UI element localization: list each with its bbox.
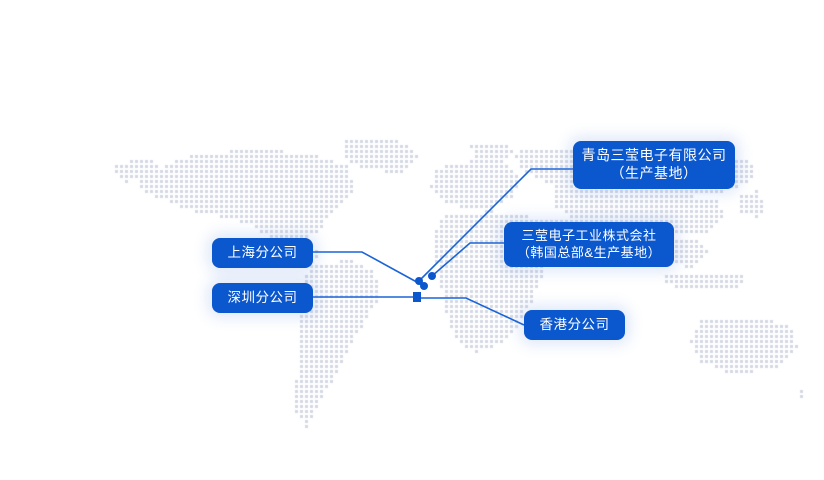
label-korea-hq[interactable]: 三莹电子工业株式会社 （韩国总部&生产基地） [504,222,674,267]
label-korea-line2: （韩国总部&生产基地） [517,245,661,262]
label-shenzhen-line1: 深圳分公司 [228,289,298,306]
world-map [0,0,824,480]
label-korea-line1: 三莹电子工业株式会社 [521,228,656,245]
label-shenzhen-branch[interactable]: 深圳分公司 [212,283,313,313]
label-shanghai-branch[interactable]: 上海分公司 [212,238,313,268]
label-qingdao-line1: 青岛三莹电子有限公司 [582,147,727,165]
label-hongkong-line1: 香港分公司 [540,316,610,333]
label-qingdao-line2: （生产基地） [611,165,698,183]
label-hongkong-branch[interactable]: 香港分公司 [524,310,625,340]
label-qingdao[interactable]: 青岛三莹电子有限公司 （生产基地） [573,141,735,189]
world-map-dots [0,0,824,480]
label-shanghai-line1: 上海分公司 [228,244,298,261]
map-infographic: 青岛三莹电子有限公司 （生产基地） 三莹电子工业株式会社 （韩国总部&生产基地）… [0,0,824,480]
